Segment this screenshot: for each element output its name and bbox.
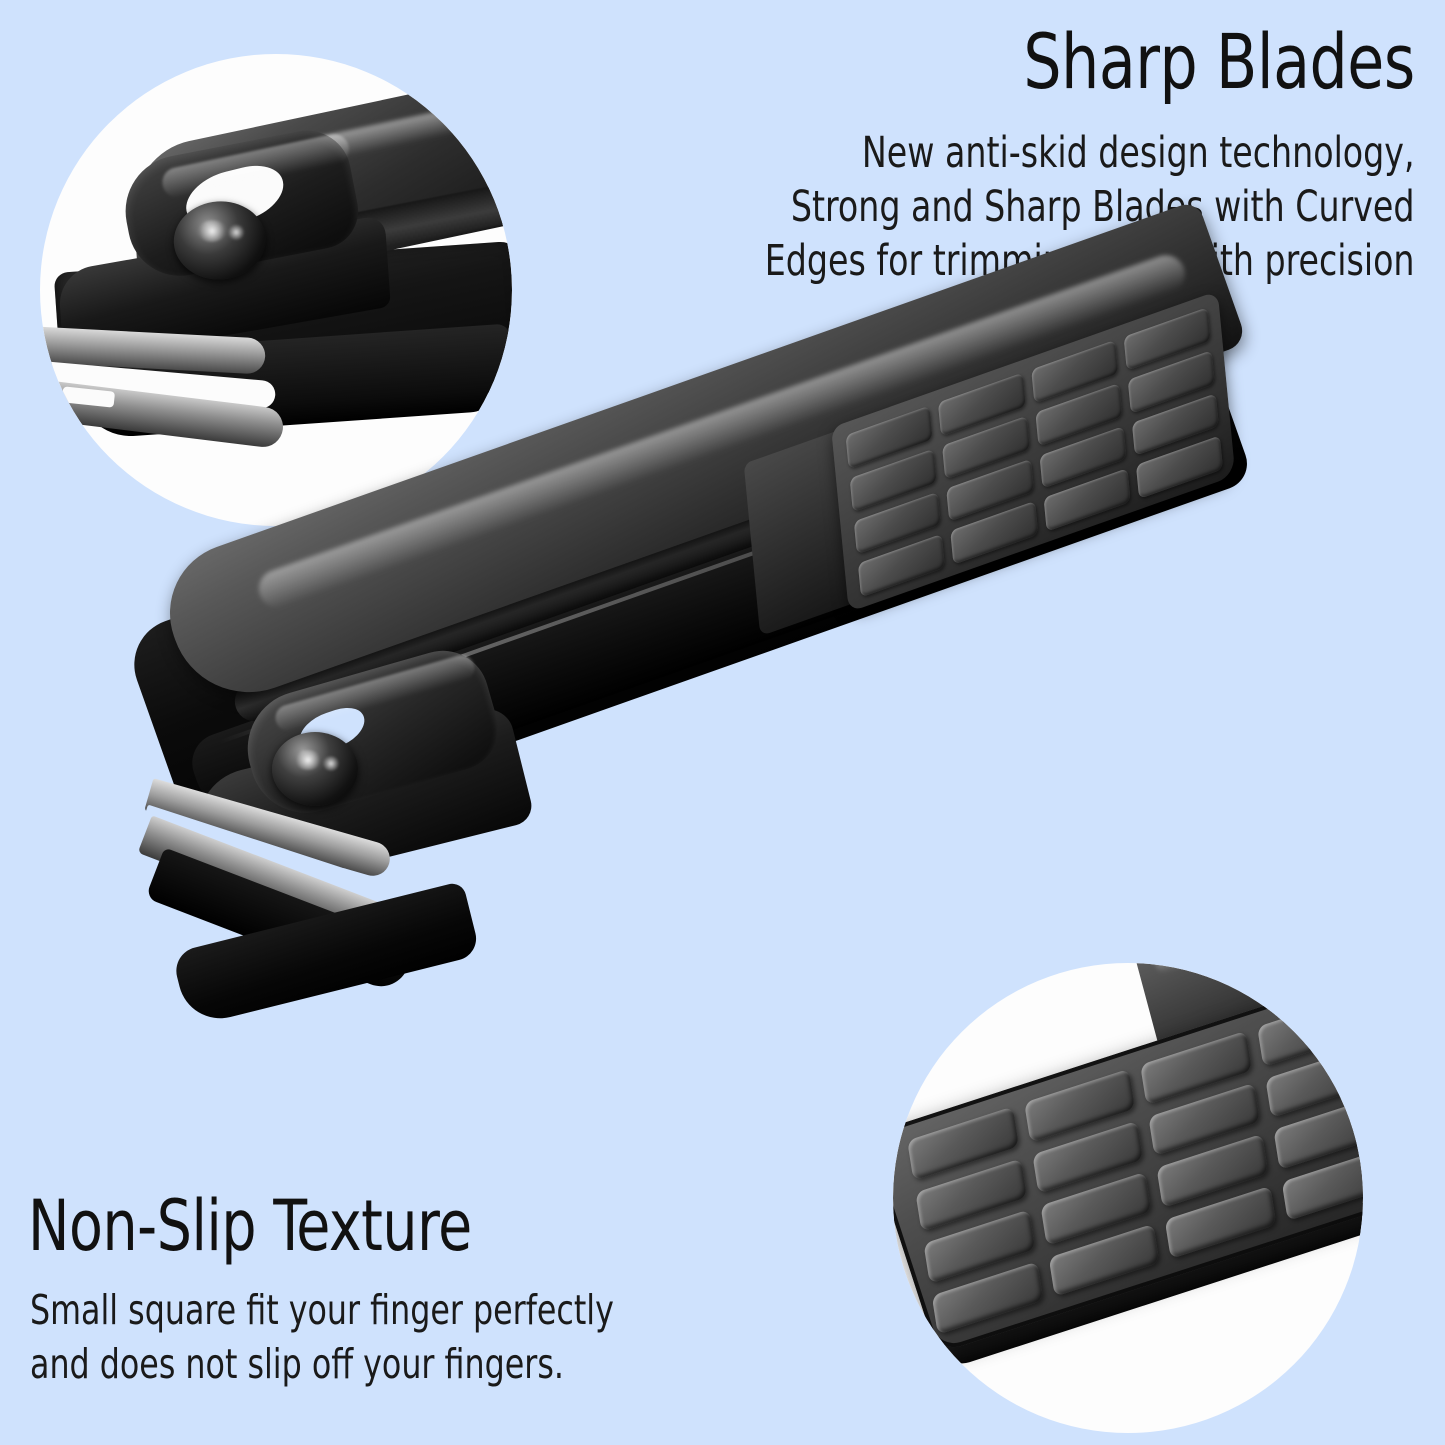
feature-body-non-slip-texture: Small square fit your finger perfectly a… — [30, 1283, 614, 1391]
feature-body-line: New anti-skid design technology, — [765, 126, 1415, 180]
infographic-canvas: Sharp Blades New anti-skid design techno… — [0, 0, 1445, 1445]
grip-pad-macro-illustration — [893, 963, 1363, 1433]
macro-pad-square-grid — [907, 993, 1363, 1335]
feature-heading-non-slip-texture: Non-Slip Texture — [28, 1186, 472, 1266]
feature-body-line: and does not slip off your fingers. — [30, 1337, 614, 1391]
inset-clip-bottom-right — [893, 963, 1363, 1433]
product-pivot-rivet — [272, 732, 358, 806]
feature-body-line: Small square fit your finger perfectly — [30, 1283, 614, 1337]
product-rivet-glint-secondary — [322, 756, 340, 771]
product-rivet-glint-primary — [294, 750, 322, 770]
feature-heading-sharp-blades: Sharp Blades — [1024, 20, 1415, 104]
product-nail-clipper-illustration — [140, 370, 1320, 1050]
product-clipper-head — [150, 666, 630, 996]
feature-body-line: Strong and Sharp Blades with Curved — [765, 180, 1415, 234]
inset-circle-non-slip-texture — [893, 963, 1363, 1433]
